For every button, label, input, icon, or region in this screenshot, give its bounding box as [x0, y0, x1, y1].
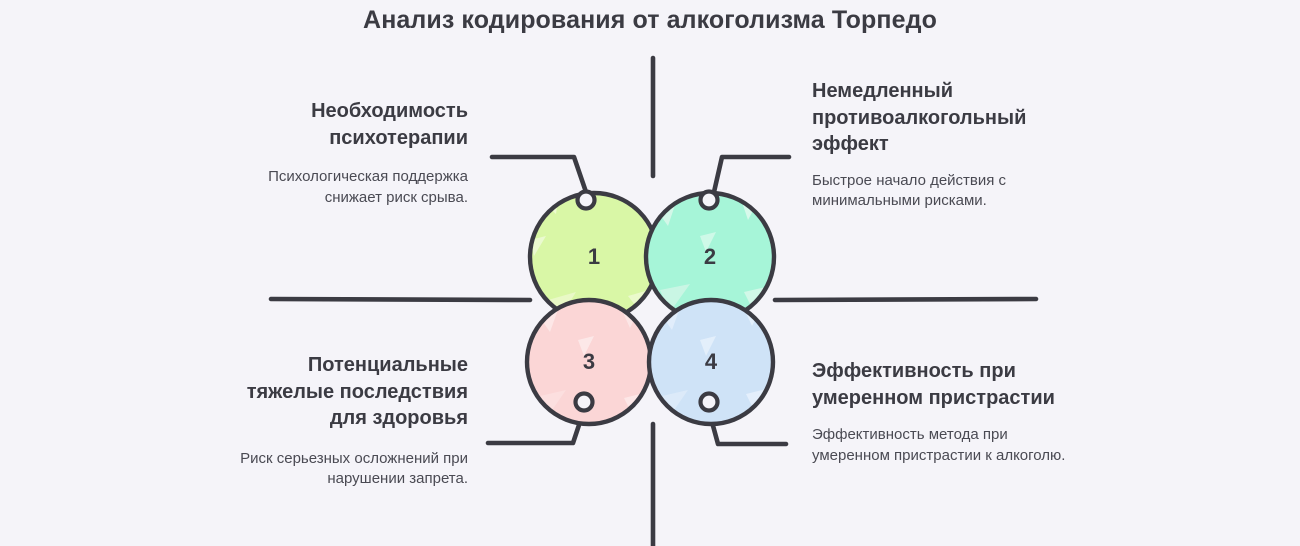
leader-line-1: [492, 157, 586, 192]
anchor-ring-1: [578, 192, 595, 209]
svg-text:4: 4: [705, 349, 718, 374]
quadrant-bottom-right-body: Эффективность метода при умеренном прист…: [812, 425, 1072, 466]
infographic-canvas: Анализ кодирования от алкоголизма Торпед…: [0, 0, 1300, 546]
quadrant-bottom-left-body: Риск серьезных осложнений при нарушении …: [218, 449, 468, 490]
quadrant-bottom-right-heading: Эффективность при умеренном пристрастии: [812, 358, 1072, 411]
svg-text:1: 1: [588, 244, 600, 269]
anchor-ring-2: [701, 192, 718, 209]
bubble-4: 4: [649, 298, 773, 424]
quadrant-top-left-heading: Необходимость психотерапии: [218, 98, 468, 151]
quadrant-bottom-left: Потенциальные тяжелые последствия для зд…: [218, 352, 468, 490]
bubble-3: 3: [527, 300, 651, 424]
quadrant-top-right-body: Быстрое начало действия с минимальными р…: [812, 171, 1072, 212]
leader-line-2: [714, 157, 789, 192]
quadrant-top-left-body: Психологическая поддержка снижает риск с…: [218, 167, 468, 208]
anchor-ring-4: [701, 394, 718, 411]
quadrant-top-right-heading: Немедленный противоалкогольный эффект: [812, 78, 1072, 158]
quadrant-top-right: Немедленный противоалкогольный эффект Бы…: [812, 78, 1072, 212]
svg-text:3: 3: [583, 349, 595, 374]
svg-text:2: 2: [704, 244, 716, 269]
quadrant-bottom-left-heading: Потенциальные тяжелые последствия для зд…: [218, 352, 468, 432]
quadrant-bottom-right: Эффективность при умеренном пристрастии …: [812, 358, 1072, 467]
quadrant-top-left: Необходимость психотерапии Психологическ…: [218, 98, 468, 209]
anchor-ring-3: [576, 394, 593, 411]
diagram-graphics: 1 2: [0, 0, 1300, 546]
